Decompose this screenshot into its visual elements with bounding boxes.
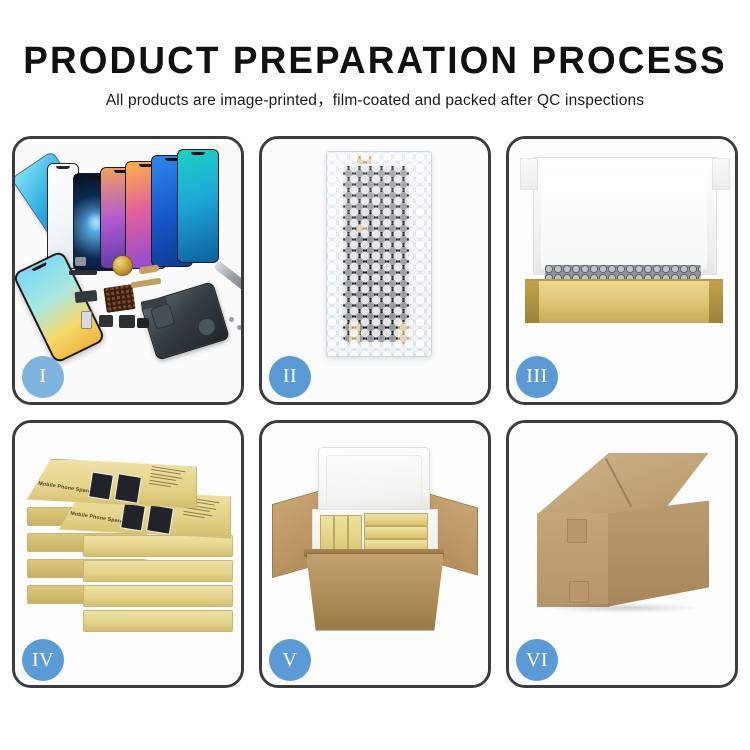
foam-sheet <box>541 169 707 269</box>
foam-lid <box>318 447 430 515</box>
carton-body <box>306 553 444 631</box>
speaker-module-icon <box>119 315 135 328</box>
page-subtitle: All products are image-printed，film-coat… <box>0 93 750 109</box>
process-step-panel-5[interactable]: V <box>259 420 491 689</box>
box-window-icon <box>88 471 114 500</box>
carton-tape-icon <box>567 519 587 543</box>
page-title: PRODUCT PREPARATION PROCESS <box>11 42 739 80</box>
step-badge-5: V <box>269 639 311 681</box>
kraft-box-base <box>525 281 723 323</box>
stacked-box-edge <box>83 560 233 582</box>
step-badge-1: I <box>22 356 64 398</box>
sim-tray-icon <box>81 311 92 329</box>
box-window-icon <box>146 504 174 534</box>
process-step-panel-1[interactable]: I <box>12 136 244 405</box>
product-preparation-infographic: PRODUCT PREPARATION PROCESS All products… <box>0 0 750 750</box>
metal-shield-icon <box>75 257 86 266</box>
carton-tape-icon <box>569 581 589 603</box>
bubble-texture-offset <box>327 152 431 356</box>
button-bracket-icon <box>137 318 149 328</box>
speaker-coil-icon <box>112 255 133 276</box>
phone-screen-teal-icon <box>177 149 219 263</box>
inner-box-item <box>364 526 428 539</box>
camera-module-icon <box>74 290 97 303</box>
box-window-icon <box>120 502 146 531</box>
step-badge-2: II <box>269 356 311 398</box>
step-badge-6: VI <box>516 639 558 681</box>
box-window-icon <box>114 473 142 503</box>
process-step-grid: I II <box>12 136 738 688</box>
screw-icon <box>229 317 234 322</box>
printed-box-top-1: Mobile Phone Spare Parts <box>27 459 197 509</box>
process-step-panel-4[interactable]: Mobile Phone Spare Parts Mobile Phone Sp… <box>12 420 244 689</box>
step-badge-3: III <box>516 356 558 398</box>
carton-shadow <box>543 603 703 613</box>
logic-board-icon <box>103 284 135 313</box>
stacked-box-edge <box>83 585 233 607</box>
box-spec-lines <box>149 465 192 491</box>
screw-icon <box>237 325 241 330</box>
process-step-panel-3[interactable]: III <box>506 136 738 405</box>
process-step-panel-6[interactable]: VI <box>506 420 738 689</box>
inner-box-item <box>364 513 428 526</box>
process-step-panel-2[interactable]: II <box>259 136 491 405</box>
flex-cable-icon <box>69 270 97 275</box>
stacked-boxes: Mobile Phone Spare Parts Mobile Phone Sp… <box>25 445 235 635</box>
step-badge-4: IV <box>22 639 64 681</box>
stacked-box-edge <box>83 610 233 632</box>
header: PRODUCT PREPARATION PROCESS All products… <box>0 0 750 109</box>
screen-fan-group <box>69 147 239 277</box>
vibrator-icon <box>99 315 113 327</box>
stacked-box-edge <box>83 535 233 557</box>
bubble-wrap-bag <box>326 151 432 357</box>
